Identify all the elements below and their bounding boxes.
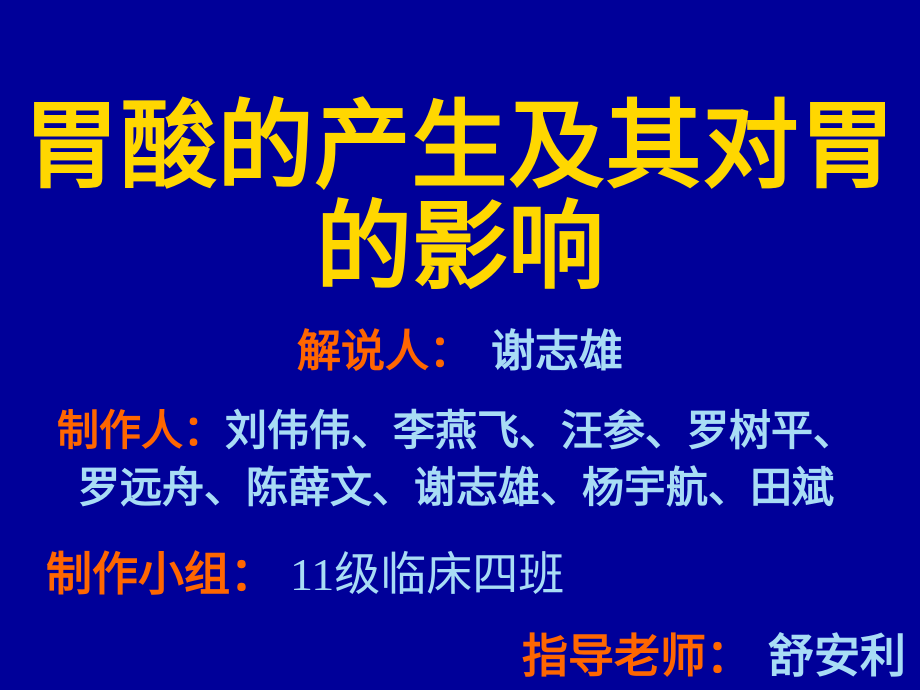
producers-line-1: 制作人：刘伟伟、李燕飞、汪参、罗树平、 [0, 402, 920, 461]
producers-value-line-2: 罗远舟、陈薛文、谢志雄、杨宇航、田斌 [0, 461, 920, 518]
slide-title: 胃酸的产生及其对胃 的影响 [0, 96, 920, 298]
narrator-row: 解说人：谢志雄 [0, 326, 920, 378]
producers-value-line-1: 刘伟伟、李燕飞、汪参、罗树平、 [225, 409, 855, 455]
narrator-value: 谢志雄 [491, 327, 623, 376]
group-value: 11级临床四班 [290, 549, 564, 600]
group-label: 制作小组： [46, 547, 276, 601]
slide-title-line-1: 胃酸的产生及其对胃 [0, 96, 920, 197]
advisor-value: 舒安利 [768, 631, 906, 682]
producers-label: 制作人： [57, 406, 225, 455]
presentation-title-slide: 胃酸的产生及其对胃 的影响 解说人：谢志雄 制作人：刘伟伟、李燕飞、汪参、罗树平… [0, 0, 920, 690]
producers-row: 制作人：刘伟伟、李燕飞、汪参、罗树平、 罗远舟、陈薛文、谢志雄、杨宇航、田斌 [0, 402, 920, 518]
advisor-label: 指导老师： [522, 629, 752, 683]
advisor-row: 指导老师：舒安利 [0, 628, 920, 685]
group-row: 制作小组：11级临床四班 [46, 546, 564, 603]
slide-title-line-2: 的影响 [0, 197, 920, 298]
narrator-label: 解说人： [297, 326, 473, 377]
